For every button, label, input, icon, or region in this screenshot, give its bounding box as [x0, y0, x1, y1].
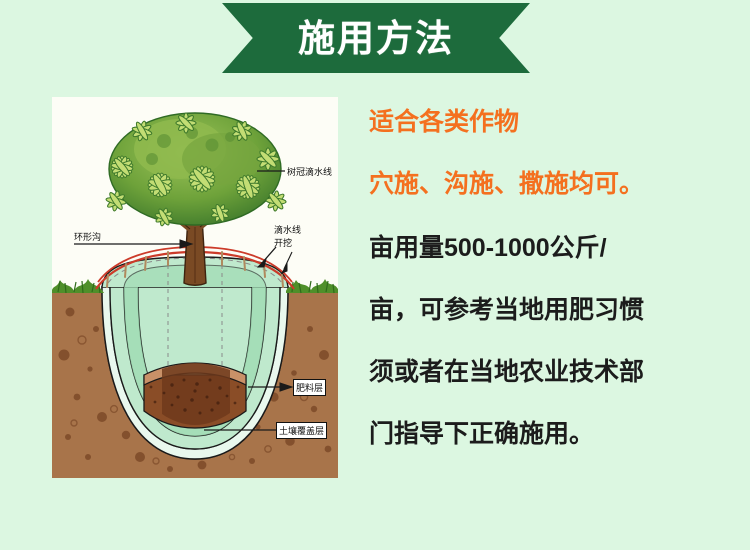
usage-line-4: 亩，可参考当地用肥习惯 — [369, 298, 644, 323]
usage-text-block: 适合各类作物 穴施、沟施、撒施均可。 亩用量500-1000公斤/ 亩，可参考当… — [369, 100, 744, 490]
label-drip-line-dig-line2: 开挖 — [274, 236, 292, 249]
usage-line-3: 亩用量500-1000公斤/ — [369, 236, 607, 261]
label-drip-line-dig-line1: 滴水线 — [274, 223, 301, 236]
label-ring-trench: 环形沟 — [74, 230, 101, 243]
label-canopy-drip-line: 树冠滴水线 — [287, 165, 332, 178]
usage-line-2: 穴施、沟施、撒施均可。 — [369, 172, 644, 197]
illustration-drawing — [52, 97, 338, 478]
label-fertilizer-layer: 肥料层 — [293, 379, 326, 396]
label-soil-cover-layer: 土壤覆盖层 — [276, 422, 327, 439]
usage-line-6: 门指导下正确施用。 — [369, 422, 594, 447]
usage-line-1: 适合各类作物 — [369, 110, 519, 135]
page-title: 施用方法 — [298, 20, 454, 57]
page-title-banner: 施用方法 — [222, 3, 530, 73]
method-illustration: 树冠滴水线 环形沟 滴水线 开挖 肥料层 土壤覆盖层 — [52, 97, 338, 478]
usage-line-5: 须或者在当地农业技术部 — [369, 360, 644, 385]
fertilizer-layer-block — [144, 363, 246, 428]
